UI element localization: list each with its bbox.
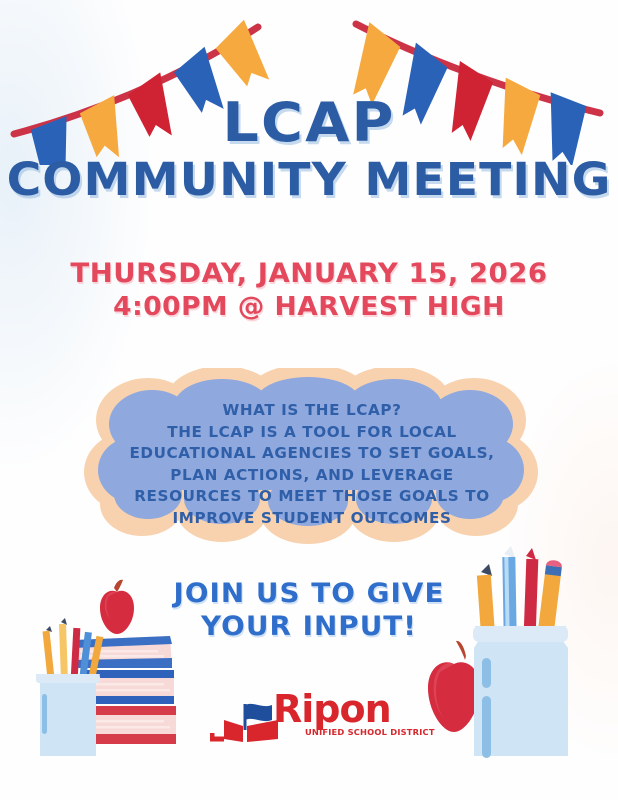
cloud-line-4: PLAN ACTIONS, AND LEVERAGE — [82, 465, 542, 487]
pencil-jar-left — [36, 674, 100, 756]
pencils-right-jar — [477, 546, 563, 637]
pencil-jar-right — [473, 626, 568, 758]
books-apple-pencil-cup-illustration — [22, 578, 207, 773]
lcap-info-cloud: WHAT IS THE LCAP? THE LCAP IS A TOOL FOR… — [82, 368, 542, 548]
apple-right — [428, 641, 480, 732]
event-time-location: 4:00PM @ HARVEST HIGH — [0, 293, 618, 323]
lcap-flyer: LCAP COMMUNITY MEETING THURSDAY, JANUARY… — [0, 0, 618, 800]
cloud-line-3: EDUCATIONAL AGENCIES TO SET GOALS, — [82, 443, 542, 465]
bunting-flag-left-5 — [210, 19, 270, 94]
ripon-usd-logo: Ripon UNIFIED SCHOOL DISTRICT — [210, 694, 415, 750]
cloud-line-1: WHAT IS THE LCAP? — [82, 400, 542, 422]
title-lcap: LCAP — [0, 96, 618, 150]
logo-wordmark: Ripon — [273, 690, 391, 728]
cloud-text-block: WHAT IS THE LCAP? THE LCAP IS A TOOL FOR… — [82, 400, 542, 529]
title-community-meeting: COMMUNITY MEETING — [0, 156, 618, 203]
event-date: THURSDAY, JANUARY 15, 2026 — [0, 258, 618, 289]
cloud-line-2: THE LCAP IS A TOOL FOR LOCAL — [82, 422, 542, 444]
event-details-block: THURSDAY, JANUARY 15, 2026 4:00PM @ HARV… — [0, 258, 618, 323]
book-flag-logo-icon — [210, 700, 280, 746]
apple-left — [100, 580, 134, 634]
pencil-jar-apple-illustration — [418, 540, 608, 775]
flyer-title-block: LCAP COMMUNITY MEETING — [0, 96, 618, 203]
pencils-left-cup — [43, 618, 104, 682]
logo-subtitle: UNIFIED SCHOOL DISTRICT — [305, 727, 435, 737]
cloud-line-5: RESOURCES TO MEET THOSE GOALS TO — [82, 486, 542, 508]
cloud-line-6: IMPROVE STUDENT OUTCOMES — [82, 508, 542, 530]
